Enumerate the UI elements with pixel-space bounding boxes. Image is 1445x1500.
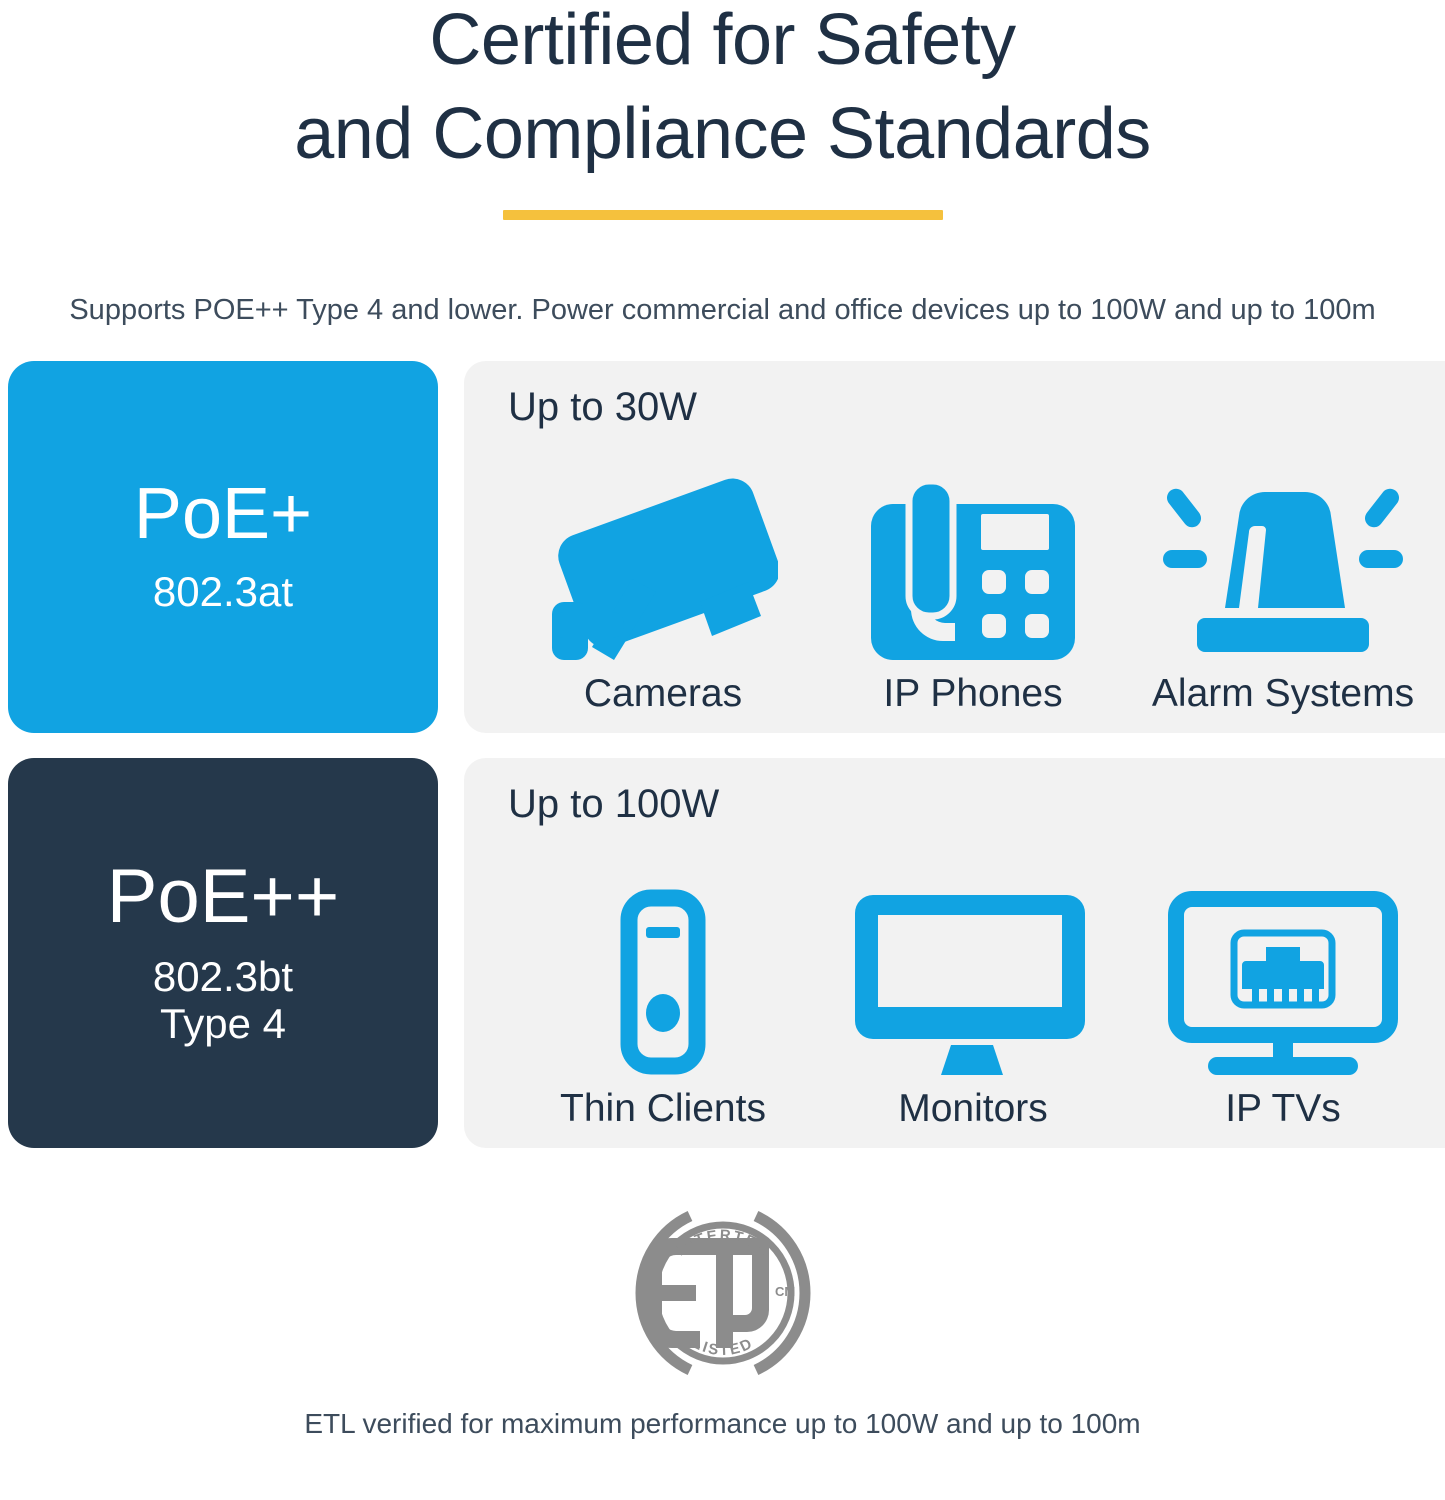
- etl-cm-superscript: CM: [775, 1284, 795, 1299]
- poe-comparison-matrix: PoE+ 802.3at Up to 30W: [0, 361, 1445, 1148]
- panel-heading: Up to 30W: [508, 387, 1438, 427]
- badge-subtitle-line-1: 802.3bt: [153, 953, 293, 1000]
- device-label: Alarm Systems: [1152, 674, 1414, 713]
- ip-phone-icon: [871, 470, 1075, 660]
- device-item: IP Phones: [818, 470, 1128, 713]
- device-panel-100w: Up to 100W Thi: [464, 758, 1445, 1148]
- badge-subtitle: 802.3bt Type 4: [153, 953, 293, 1047]
- device-item: Alarm Systems: [1128, 470, 1438, 713]
- page-header: Certified for Safety and Compliance Stan…: [0, 0, 1445, 327]
- device-label: Monitors: [898, 1089, 1048, 1128]
- page-title-line-2: and Compliance Standards: [0, 98, 1445, 170]
- ip-tv-icon: [1166, 885, 1400, 1075]
- poe-row: PoE++ 802.3bt Type 4 Up to 100W: [8, 758, 1437, 1148]
- etl-listed-intertek-logo: INTERTEK LISTED CM: [630, 1200, 816, 1386]
- page-title-line-1: Certified for Safety: [0, 4, 1445, 76]
- device-label: IP TVs: [1225, 1089, 1341, 1128]
- device-item: Cameras: [508, 470, 818, 713]
- certification-note: ETL verified for maximum performance up …: [304, 1408, 1140, 1440]
- poe-row: PoE+ 802.3at Up to 30W: [8, 361, 1437, 733]
- device-item: Thin Clients: [508, 885, 818, 1128]
- device-label: Cameras: [584, 674, 742, 713]
- page-subtitle: Supports POE++ Type 4 and lower. Power c…: [0, 294, 1445, 327]
- poe-standard-badge-poe-plus-plus: PoE++ 802.3bt Type 4: [8, 758, 438, 1148]
- device-item: IP TVs: [1128, 885, 1438, 1128]
- alarm-siren-icon: [1157, 470, 1409, 660]
- badge-subtitle-line-2: Type 4: [153, 1000, 293, 1047]
- device-item: Monitors: [818, 885, 1128, 1128]
- device-list: Thin Clients: [508, 824, 1438, 1130]
- title-accent-underline: [503, 210, 943, 220]
- monitor-icon: [853, 885, 1093, 1075]
- poe-standard-badge-poe-plus: PoE+ 802.3at: [8, 361, 438, 733]
- badge-subtitle: 802.3at: [153, 568, 293, 615]
- device-panel-30w: Up to 30W: [464, 361, 1445, 733]
- thin-client-icon: [620, 885, 706, 1075]
- badge-title: PoE+: [134, 478, 312, 550]
- device-label: IP Phones: [883, 674, 1062, 713]
- badge-title: PoE++: [107, 859, 339, 935]
- cctv-camera-icon: [548, 470, 778, 660]
- certification-section: INTERTEK LISTED CM ETL verified for maxi…: [0, 1200, 1445, 1440]
- device-label: Thin Clients: [560, 1089, 766, 1128]
- device-list: Cameras: [508, 427, 1438, 715]
- panel-heading: Up to 100W: [508, 784, 1438, 824]
